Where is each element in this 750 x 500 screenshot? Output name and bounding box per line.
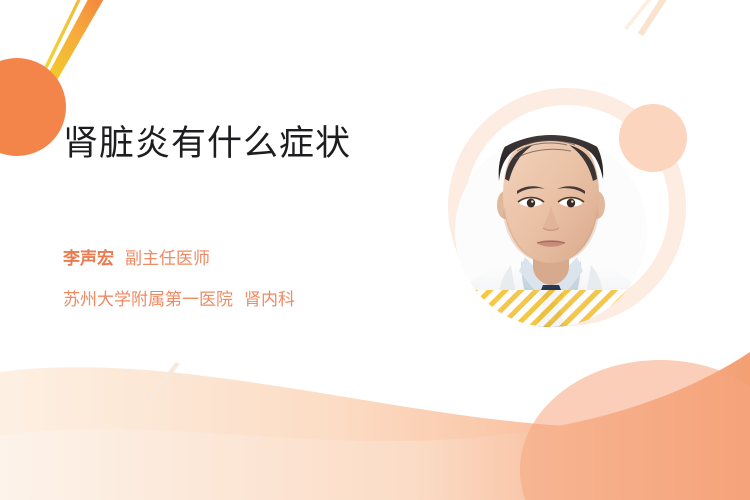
- doctor-hospital: 苏州大学附属第一医院: [63, 290, 233, 309]
- orange-circle-decoration: [0, 58, 66, 156]
- doctor-name-role: 李声宏副主任医师: [63, 250, 210, 267]
- doctor-name: 李声宏: [63, 249, 114, 268]
- doctor-role: 副主任医师: [125, 249, 210, 268]
- doctor-info-card: 肾脏炎有什么症状 李声宏副主任医师 苏州大学附属第一医院肾内科: [0, 0, 750, 500]
- doctor-department: 肾内科: [244, 290, 295, 309]
- page-title: 肾脏炎有什么症状: [63, 115, 351, 166]
- doctor-hospital-department: 苏州大学附属第一医院肾内科: [63, 291, 295, 308]
